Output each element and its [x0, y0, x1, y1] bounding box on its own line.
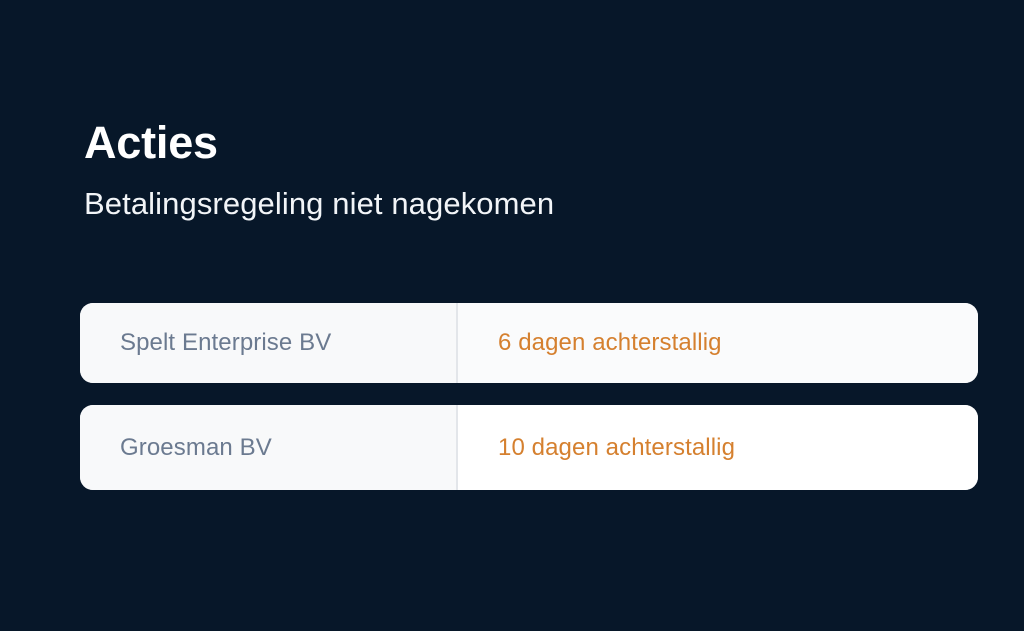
company-name-cell: Spelt Enterprise BV: [80, 303, 456, 383]
company-name-cell: Groesman BV: [80, 405, 456, 490]
action-list: Spelt Enterprise BV 6 dagen achterstalli…: [80, 303, 978, 490]
list-item[interactable]: Groesman BV 10 dagen achterstallig: [80, 405, 978, 490]
status-badge: 10 dagen achterstallig: [458, 405, 978, 490]
list-item[interactable]: Spelt Enterprise BV 6 dagen achterstalli…: [80, 303, 978, 383]
status-badge: 6 dagen achterstallig: [458, 303, 978, 383]
page-subtitle: Betalingsregeling niet nagekomen: [84, 186, 944, 222]
page-title: Acties: [84, 118, 944, 168]
panel-header: Acties Betalingsregeling niet nagekomen: [84, 118, 944, 222]
actions-panel: Acties Betalingsregeling niet nagekomen …: [0, 0, 1024, 631]
